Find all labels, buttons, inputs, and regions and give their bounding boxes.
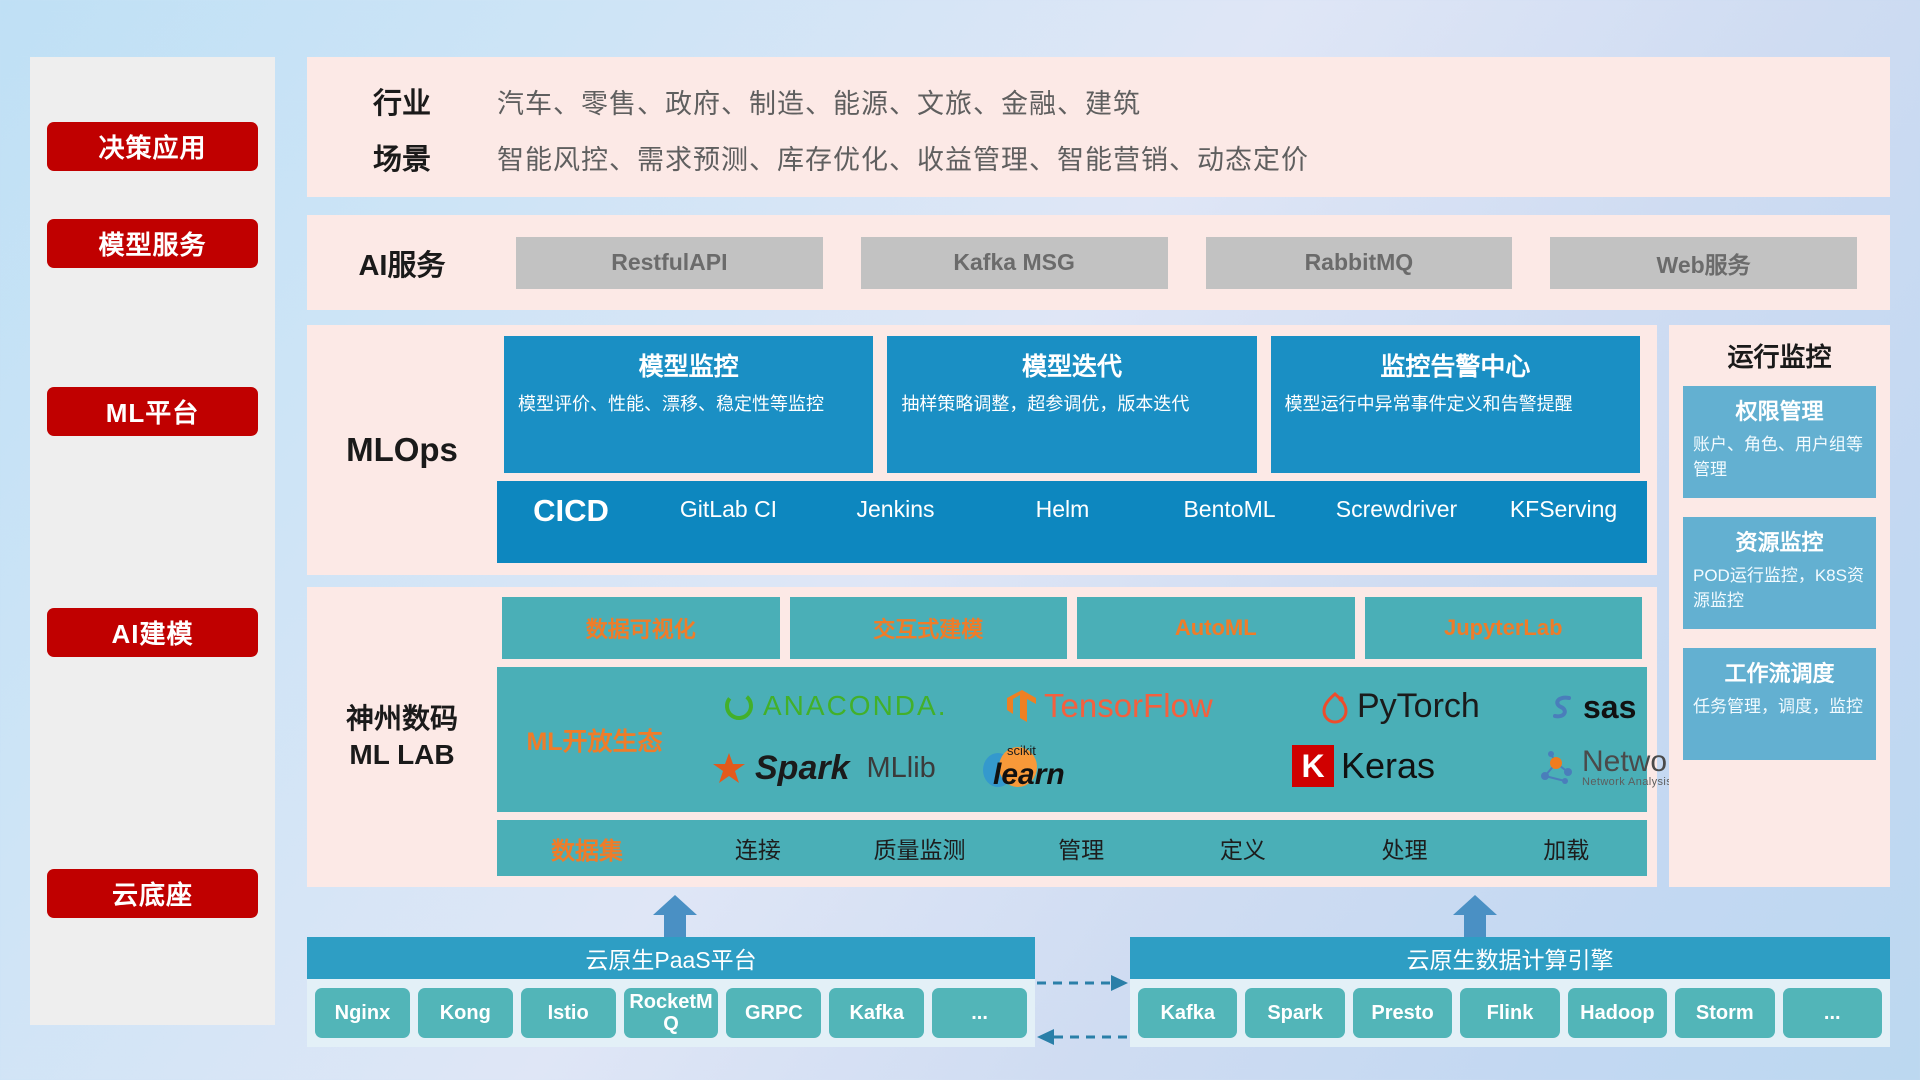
cloud-chip-more[interactable]: ... — [1783, 988, 1882, 1038]
cloud-chip-spark[interactable]: Spark — [1245, 988, 1344, 1038]
ai-modeling-band: 神州数码 ML LAB 数据可视化 交互式建模 AutoML JupyterLa… — [307, 587, 1890, 887]
industry-label: 行业 — [307, 80, 497, 122]
scenario-values: 智能风控、需求预测、库存优化、收益管理、智能营销、动态定价 — [497, 138, 1309, 177]
mlops-card-alert-center[interactable]: 监控告警中心 模型运行中异常事件定义和告警提醒 — [1271, 336, 1640, 473]
monitor-card-workflow[interactable]: 工作流调度 任务管理，调度，监控 — [1683, 648, 1876, 760]
card-desc: 账户、角色、用户组等管理 — [1693, 433, 1866, 482]
card-title: 工作流调度 — [1693, 656, 1866, 688]
ai-service-chip-web-service[interactable]: Web服务 — [1550, 237, 1857, 289]
cloud-chip-hadoop[interactable]: Hadoop — [1568, 988, 1667, 1038]
cicd-item-kfserving[interactable]: KFServing — [1480, 493, 1647, 524]
anaconda-logo: ANACONDA. — [722, 689, 947, 723]
cicd-bar: CICD GitLab CI Jenkins Helm BentoML Scre… — [497, 481, 1647, 563]
cloud-chip-presto[interactable]: Presto — [1353, 988, 1452, 1038]
card-title: 模型监控 — [518, 347, 859, 383]
ml-platform-band: MLOps 模型监控 模型评价、性能、漂移、稳定性等监控 模型迭代 抽样策略调整… — [307, 325, 1890, 575]
rail-label: AI建模 — [111, 614, 193, 651]
cicd-item-bentoml[interactable]: BentoML — [1146, 493, 1313, 524]
dataset-item-process[interactable]: 处理 — [1324, 831, 1486, 865]
dataset-item-quality[interactable]: 质量监测 — [839, 831, 1001, 865]
industry-values: 汽车、零售、政府、制造、能源、文旅、金融、建筑 — [497, 82, 1141, 121]
dataset-item-connect[interactable]: 连接 — [677, 831, 839, 865]
tool-chip-data-visualization[interactable]: 数据可视化 — [502, 597, 780, 659]
scikit-learn-logo-sub: scikit — [1007, 743, 1065, 758]
cloud-paas-block: 云原生PaaS平台 Nginx Kong Istio RocketMQ GRPC… — [307, 937, 1035, 1047]
cloud-chip-istio[interactable]: Istio — [521, 988, 616, 1038]
ai-service-chip-kafka-msg[interactable]: Kafka MSG — [861, 237, 1168, 289]
card-desc: 抽样策略调整，超参调优，版本迭代 — [901, 392, 1242, 418]
rail-item-model-service[interactable]: 模型服务 — [47, 219, 258, 268]
cloud-chip-storm[interactable]: Storm — [1675, 988, 1774, 1038]
cloud-compute-chip-row: Kafka Spark Presto Flink Hadoop Storm ..… — [1130, 979, 1890, 1047]
sas-logo-text: sas — [1583, 689, 1636, 726]
card-title: 资源监控 — [1693, 525, 1866, 557]
mlops-panel: MLOps 模型监控 模型评价、性能、漂移、稳定性等监控 模型迭代 抽样策略调整… — [307, 325, 1657, 575]
mllib-logo-text: MLlib — [867, 752, 936, 785]
layer-rail: 决策应用 模型服务 ML平台 AI建模 云底座 — [30, 57, 275, 1025]
mlops-label: MLOps — [307, 325, 497, 575]
card-desc: POD运行监控，K8S资源监控 — [1693, 564, 1866, 613]
monitor-card-permission[interactable]: 权限管理 账户、角色、用户组等管理 — [1683, 386, 1876, 498]
tensorflow-logo-text: TensorFlow — [1044, 687, 1213, 725]
cicd-item-helm[interactable]: Helm — [979, 493, 1146, 524]
cloud-chip-grpc[interactable]: GRPC — [726, 988, 821, 1038]
cloud-compute-title: 云原生数据计算引擎 — [1130, 937, 1890, 979]
ai-service-band: AI服务 RestfulAPI Kafka MSG RabbitMQ Web服务 — [307, 215, 1890, 310]
spark-logo: Spark MLlib — [710, 749, 936, 788]
rail-label: 决策应用 — [98, 128, 206, 165]
dataset-item-define[interactable]: 定义 — [1162, 831, 1324, 865]
ml-lab-label-line2: ML LAB — [349, 737, 454, 773]
cicd-item-screwdriver[interactable]: Screwdriver — [1313, 493, 1480, 524]
scenario-row: 场景 智能风控、需求预测、库存优化、收益管理、智能营销、动态定价 — [307, 129, 1890, 185]
tool-chip-jupyterlab[interactable]: JupyterLab — [1365, 597, 1643, 659]
industry-row: 行业 汽车、零售、政府、制造、能源、文旅、金融、建筑 — [307, 73, 1890, 129]
cloud-chip-more[interactable]: ... — [932, 988, 1027, 1038]
cicd-label: CICD — [497, 493, 645, 529]
tensorflow-logo: TensorFlow — [1007, 687, 1213, 725]
ai-service-chip-rabbitmq[interactable]: RabbitMQ — [1206, 237, 1513, 289]
card-desc: 模型评价、性能、漂移、稳定性等监控 — [518, 392, 859, 418]
card-desc: 任务管理，调度，监控 — [1693, 695, 1866, 720]
runtime-monitoring-title: 运行监控 — [1683, 337, 1876, 374]
spark-logo-text: Spark — [755, 749, 850, 788]
ml-tools-row: 数据可视化 交互式建模 AutoML JupyterLab — [497, 597, 1647, 659]
rail-item-ai-modeling[interactable]: AI建模 — [47, 608, 258, 657]
anaconda-logo-text: ANACONDA. — [763, 690, 947, 722]
cloud-chip-kong[interactable]: Kong — [418, 988, 513, 1038]
arrow-up-compute-icon — [1452, 895, 1498, 937]
architecture-main: 行业 汽车、零售、政府、制造、能源、文旅、金融、建筑 场景 智能风控、需求预测、… — [307, 57, 1890, 1025]
ml-lab-panel: 神州数码 ML LAB 数据可视化 交互式建模 AutoML JupyterLa… — [307, 587, 1657, 887]
ml-ecosystem-row: ML开放生态 ANACONDA. TensorFlow — [497, 667, 1647, 812]
rail-item-ml-platform[interactable]: ML平台 — [47, 387, 258, 436]
card-title: 监控告警中心 — [1285, 347, 1626, 383]
scikit-learn-logo-text: learn — [993, 758, 1065, 791]
runtime-monitoring-panel: 运行监控 权限管理 账户、角色、用户组等管理 资源监控 POD运行监控，K8S资… — [1669, 325, 1890, 887]
mlops-card-model-monitoring[interactable]: 模型监控 模型评价、性能、漂移、稳定性等监控 — [504, 336, 873, 473]
rail-label: ML平台 — [106, 393, 200, 430]
monitor-card-resource[interactable]: 资源监控 POD运行监控，K8S资源监控 — [1683, 517, 1876, 629]
rail-label: 云底座 — [112, 875, 193, 912]
scikit-learn-logo: scikit learn — [982, 743, 1065, 792]
ml-lab-label: 神州数码 ML LAB — [307, 587, 497, 887]
rail-label: 模型服务 — [98, 225, 206, 262]
card-title: 模型迭代 — [901, 347, 1242, 383]
dataset-row: 数据集 连接 质量监测 管理 定义 处理 加载 — [497, 820, 1647, 876]
pytorch-logo: PyTorch — [1320, 687, 1480, 726]
mlops-card-model-iteration[interactable]: 模型迭代 抽样策略调整，超参调优，版本迭代 — [887, 336, 1256, 473]
ml-ecosystem-label: ML开放生态 — [497, 722, 692, 758]
cicd-item-jenkins[interactable]: Jenkins — [812, 493, 979, 524]
cloud-chip-flink[interactable]: Flink — [1460, 988, 1559, 1038]
keras-logo: K Keras — [1292, 745, 1435, 787]
cicd-item-gitlab-ci[interactable]: GitLab CI — [645, 493, 812, 524]
card-title: 权限管理 — [1693, 394, 1866, 426]
cloud-chip-nginx[interactable]: Nginx — [315, 988, 410, 1038]
arrow-up-paas-icon — [652, 895, 698, 937]
tool-chip-interactive-modeling[interactable]: 交互式建模 — [790, 597, 1068, 659]
pytorch-logo-text: PyTorch — [1357, 687, 1480, 726]
cloud-chip-kafka[interactable]: Kafka — [1138, 988, 1237, 1038]
dataset-item-load[interactable]: 加载 — [1485, 831, 1647, 865]
cloud-connector-arrows — [1035, 957, 1130, 1077]
cloud-paas-chip-row: Nginx Kong Istio RocketMQ GRPC Kafka ... — [307, 979, 1035, 1047]
tool-chip-automl[interactable]: AutoML — [1077, 597, 1355, 659]
card-desc: 模型运行中异常事件定义和告警提醒 — [1285, 392, 1626, 418]
cloud-compute-block: 云原生数据计算引擎 Kafka Spark Presto Flink Hadoo… — [1130, 937, 1890, 1047]
ai-service-chip-strip: RestfulAPI Kafka MSG RabbitMQ Web服务 — [497, 237, 1890, 289]
cloud-chip-rocketmq[interactable]: RocketMQ — [624, 988, 719, 1038]
rail-item-decision-apps[interactable]: 决策应用 — [47, 122, 258, 171]
mlops-card-group: 模型监控 模型评价、性能、漂移、稳定性等监控 模型迭代 抽样策略调整，超参调优，… — [497, 336, 1647, 473]
ml-ecosystem-logo-group: ANACONDA. TensorFlow — [692, 667, 1647, 812]
dataset-label: 数据集 — [497, 831, 677, 866]
ai-service-chip-restfulapi[interactable]: RestfulAPI — [516, 237, 823, 289]
rail-item-cloud-base[interactable]: 云底座 — [47, 869, 258, 918]
cloud-paas-title: 云原生PaaS平台 — [307, 937, 1035, 979]
keras-logo-text: Keras — [1341, 745, 1435, 787]
dataset-item-manage[interactable]: 管理 — [1000, 831, 1162, 865]
sas-logo: sas — [1550, 689, 1636, 726]
keras-logo-mark: K — [1292, 745, 1334, 787]
decision-apps-band: 行业 汽车、零售、政府、制造、能源、文旅、金融、建筑 场景 智能风控、需求预测、… — [307, 57, 1890, 197]
cloud-chip-kafka[interactable]: Kafka — [829, 988, 924, 1038]
ml-lab-label-line1: 神州数码 — [346, 701, 458, 737]
scenario-label: 场景 — [307, 136, 497, 178]
ai-service-label: AI服务 — [307, 242, 497, 284]
